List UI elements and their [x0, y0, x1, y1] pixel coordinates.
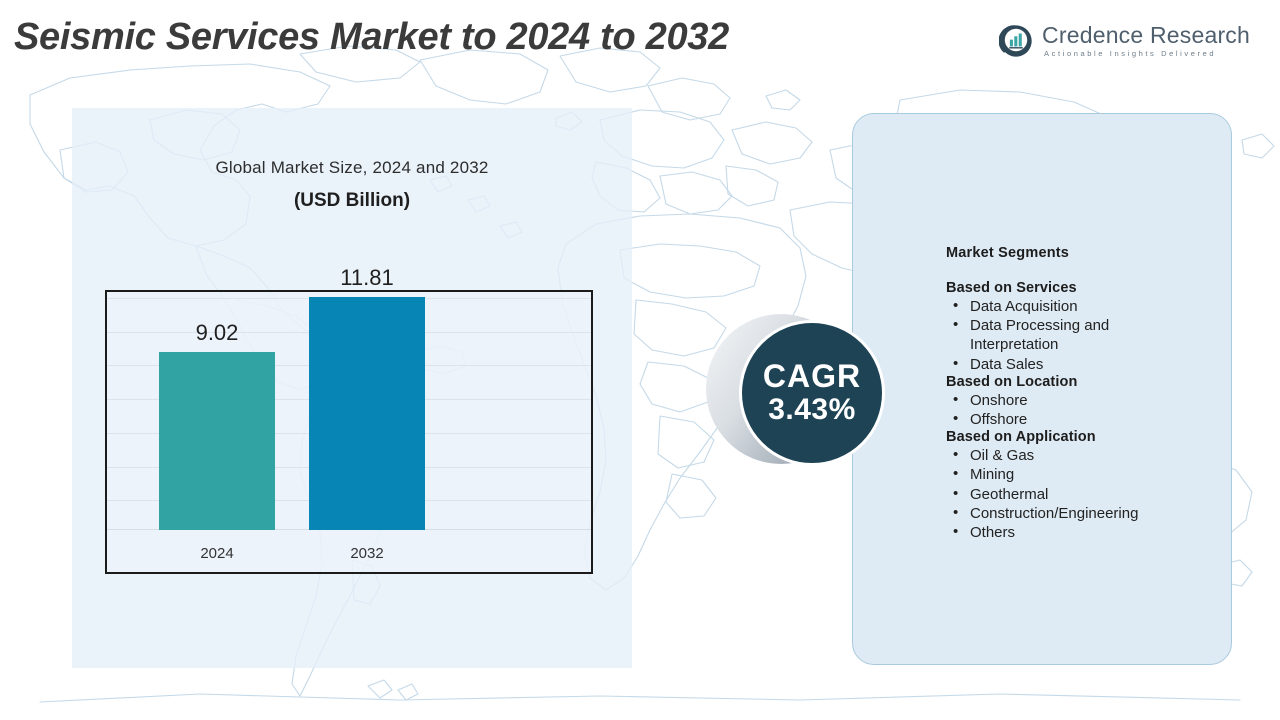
cagr-badge: CAGR 3.43% — [706, 320, 896, 470]
bar-category-label: 2024 — [200, 545, 233, 562]
segment-item: Onshore — [946, 391, 1226, 410]
segment-item: Geothermal — [946, 485, 1226, 504]
segment-item: Offshore — [946, 410, 1226, 429]
bar-chart: 9.02202411.812032 — [105, 290, 593, 574]
segment-item: Oil & Gas — [946, 446, 1226, 465]
chart-plot-area: 9.02202411.812032 — [107, 292, 591, 572]
segment-groups: Based on ServicesData AcquisitionData Pr… — [946, 280, 1226, 542]
logo-tagline: Actionable Insights Delivered — [1044, 50, 1250, 58]
bar-chart-circle-icon — [999, 24, 1033, 58]
bar-2024: 9.02 — [159, 352, 275, 530]
bar-value-label: 9.02 — [196, 320, 239, 346]
chart-subtitle: (USD Billion) — [72, 190, 632, 212]
segments-content: Market Segments Based on ServicesData Ac… — [946, 245, 1226, 542]
cagr-circle: CAGR 3.43% — [739, 320, 885, 466]
bar-category-label: 2032 — [350, 545, 383, 562]
segment-group-heading: Based on Services — [946, 280, 1226, 296]
logo-name: Credence Research — [1042, 24, 1250, 47]
bar-rect — [309, 297, 425, 530]
cagr-value: 3.43% — [768, 393, 856, 426]
segment-item: Construction/Engineering — [946, 504, 1226, 523]
bar-rect — [159, 352, 275, 530]
segment-item: Others — [946, 523, 1226, 542]
brand-logo: Credence Research Actionable Insights De… — [999, 24, 1250, 58]
bar-2032: 11.81 — [309, 297, 425, 530]
segment-group-heading: Based on Application — [946, 429, 1226, 445]
chart-title: Global Market Size, 2024 and 2032 — [72, 158, 632, 178]
page-title: Seismic Services Market to 2024 to 2032 — [14, 16, 729, 59]
segment-item: Data Sales — [946, 355, 1226, 374]
segment-item: Data Processing and — [946, 316, 1226, 335]
cagr-label: CAGR — [763, 360, 861, 394]
logo-text-block: Credence Research Actionable Insights De… — [1042, 24, 1250, 58]
segment-item: Mining — [946, 465, 1226, 484]
segment-item: Interpretation — [946, 335, 1226, 354]
infographic-root: Seismic Services Market to 2024 to 2032 … — [0, 0, 1280, 720]
segments-title: Market Segments — [946, 245, 1226, 261]
bar-value-label: 11.81 — [340, 265, 393, 291]
segment-item: Data Acquisition — [946, 297, 1226, 316]
segment-group-heading: Based on Location — [946, 374, 1226, 390]
